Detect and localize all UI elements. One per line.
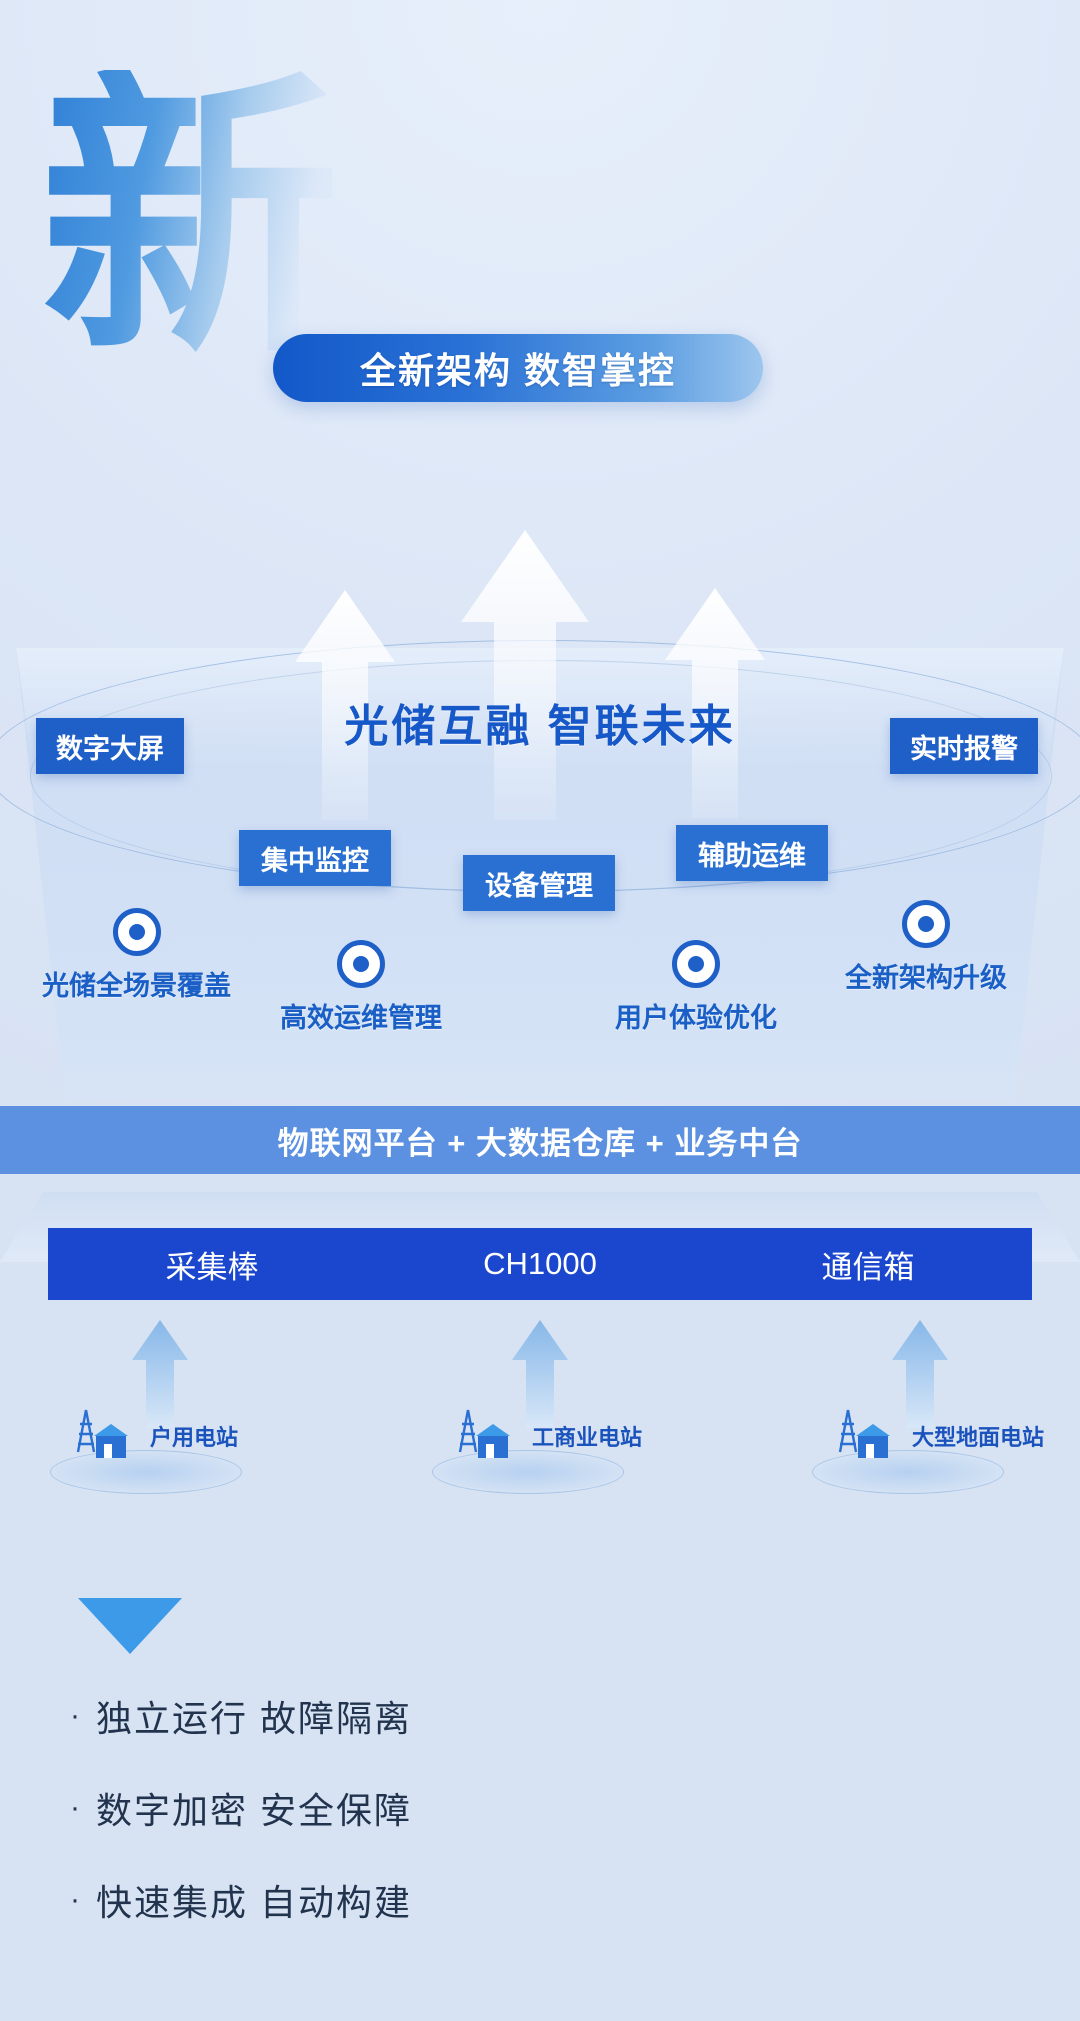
hero-big-character: 新 [40,70,336,370]
power-station-icon [450,1408,514,1473]
station-label: 大型地面电站 [912,1420,1044,1452]
feature-label: 全新架构升级 [845,956,1007,995]
feature-architecture-upgrade: 全新架构升级 [845,900,1007,995]
platform-bar-label: 物联网平台 + 大数据仓库 + 业务中台 [278,1118,803,1163]
station-utility: 大型地面电站 [812,1412,1052,1502]
station-label: 工商业电站 [532,1420,642,1452]
benefit-item-digital-encryption: · 数字加密 安全保障 [70,1782,770,1834]
tag-device-management[interactable]: 设备管理 [463,855,615,911]
feature-user-experience: 用户体验优化 [615,940,777,1035]
tag-label: 设备管理 [485,864,593,903]
tag-digital-screen[interactable]: 数字大屏 [36,718,184,774]
benefit-item-independent-operation: · 独立运行 故障隔离 [70,1690,770,1742]
platform-capability-bar: 物联网平台 + 大数据仓库 + 业务中台 [0,1106,1080,1174]
benefits-list: · 独立运行 故障隔离 · 数字加密 安全保障 · 快速集成 自动构建 [70,1690,770,1966]
station-residential: 户用电站 [50,1412,270,1502]
hero-banner-label: 全新架构 数智掌控 [360,342,676,394]
tag-label: 实时报警 [910,727,1018,766]
list-bullet: · [70,1885,82,1915]
tag-assisted-ops[interactable]: 辅助运维 [676,825,828,881]
down-triangle-icon [78,1598,182,1654]
feature-label: 光储全场景覆盖 [42,964,231,1003]
tag-label: 集中监控 [261,839,369,878]
tag-realtime-alarm[interactable]: 实时报警 [890,718,1038,774]
tag-label: 数字大屏 [56,727,164,766]
benefit-label: 数字加密 安全保障 [96,1782,412,1834]
device-bar: 采集棒 CH1000 通信箱 [48,1228,1032,1300]
station-commercial: 工商业电站 [432,1412,652,1502]
device-cell-collector-stick[interactable]: 采集棒 [48,1242,376,1287]
hero-banner: 全新架构 数智掌控 [273,334,763,402]
feature-label: 用户体验优化 [615,996,777,1035]
power-station-icon [68,1408,132,1473]
bullet-dot-icon [672,940,720,988]
device-cell-ch1000[interactable]: CH1000 [376,1246,704,1282]
power-station-icon [830,1408,894,1473]
feature-efficient-ops: 高效运维管理 [280,940,442,1035]
tag-central-monitoring[interactable]: 集中监控 [239,830,391,886]
station-label: 户用电站 [150,1420,238,1452]
poster-canvas: 新 全新架构 数智掌控 [0,0,1080,2021]
bullet-dot-icon [113,908,161,956]
bullet-dot-icon [337,940,385,988]
benefit-item-rapid-integration: · 快速集成 自动构建 [70,1874,770,1926]
bullet-dot-icon [902,900,950,948]
device-cell-communication-box[interactable]: 通信箱 [704,1242,1032,1287]
list-bullet: · [70,1793,82,1823]
feature-label: 高效运维管理 [280,996,442,1035]
list-bullet: · [70,1701,82,1731]
benefit-label: 快速集成 自动构建 [96,1874,412,1926]
tag-label: 辅助运维 [698,834,806,873]
benefit-label: 独立运行 故障隔离 [96,1690,412,1742]
feature-full-scenario-coverage: 光储全场景覆盖 [42,908,231,1003]
growth-arrow-center [455,530,595,820]
